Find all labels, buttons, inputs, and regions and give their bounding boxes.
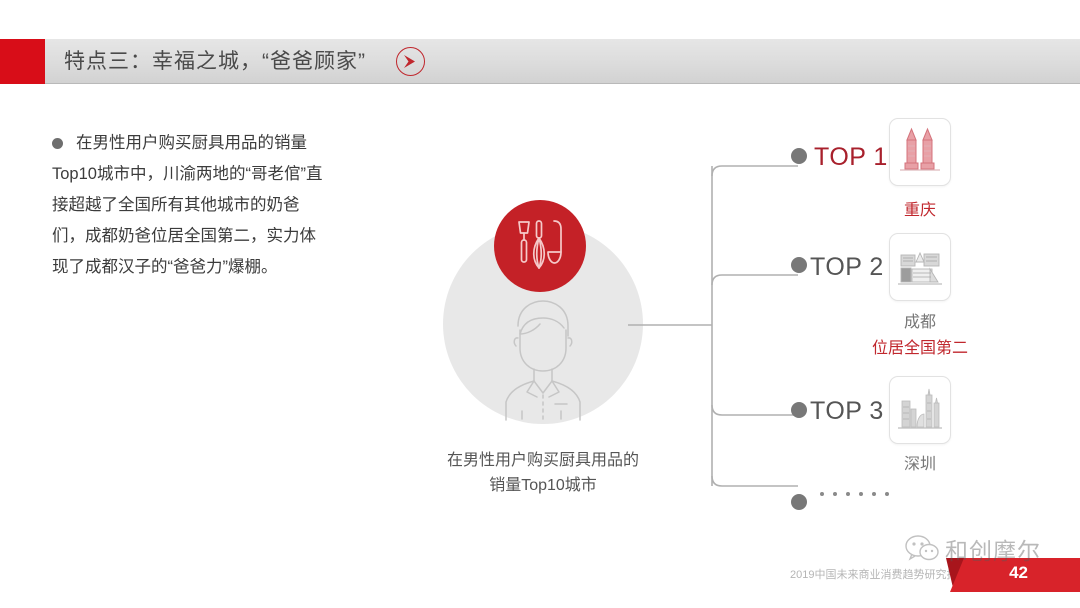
- rank-label-3: TOP 3: [810, 397, 884, 426]
- page-number: 42: [1009, 563, 1028, 583]
- rank-node-1: [791, 148, 807, 164]
- chongqing-towers-icon: [889, 118, 951, 186]
- chevron-right-icon[interactable]: [396, 47, 425, 76]
- man-portrait-icon: [487, 296, 599, 421]
- ellipsis-dots-icon: [820, 492, 889, 496]
- city-name-3: 深圳: [860, 450, 980, 474]
- rank-node-more: [791, 494, 807, 510]
- body-paragraph: 在男性用户购买厨具用品的销量Top10城市中，川渝两地的“哥老倌”直接超越了全国…: [52, 128, 327, 283]
- city-name-2: 成都: [860, 308, 980, 332]
- connector-tree: [628, 120, 828, 520]
- chengdu-pavilion-icon: [889, 233, 951, 301]
- city-name-1: 重庆: [860, 196, 980, 220]
- report-title: 2019中国未来商业消费趋势研究报告: [790, 566, 968, 582]
- kitchen-utensils-icon: [494, 200, 586, 292]
- page-title: 特点三：幸福之城，“爸爸顾家”: [64, 48, 366, 76]
- rank-node-2: [791, 257, 807, 273]
- watermark: 和创摩尔: [905, 532, 1041, 566]
- watermark-text: 和创摩尔: [945, 532, 1041, 566]
- rank-node-3: [791, 402, 807, 418]
- shenzhen-skyline-icon: [889, 376, 951, 444]
- rank-label-2: TOP 2: [810, 253, 884, 282]
- wechat-icon: [905, 535, 939, 563]
- city-note-2: 位居全国第二: [840, 334, 1000, 358]
- header-accent-block: [0, 39, 45, 84]
- rank-label-1: TOP 1: [814, 143, 888, 172]
